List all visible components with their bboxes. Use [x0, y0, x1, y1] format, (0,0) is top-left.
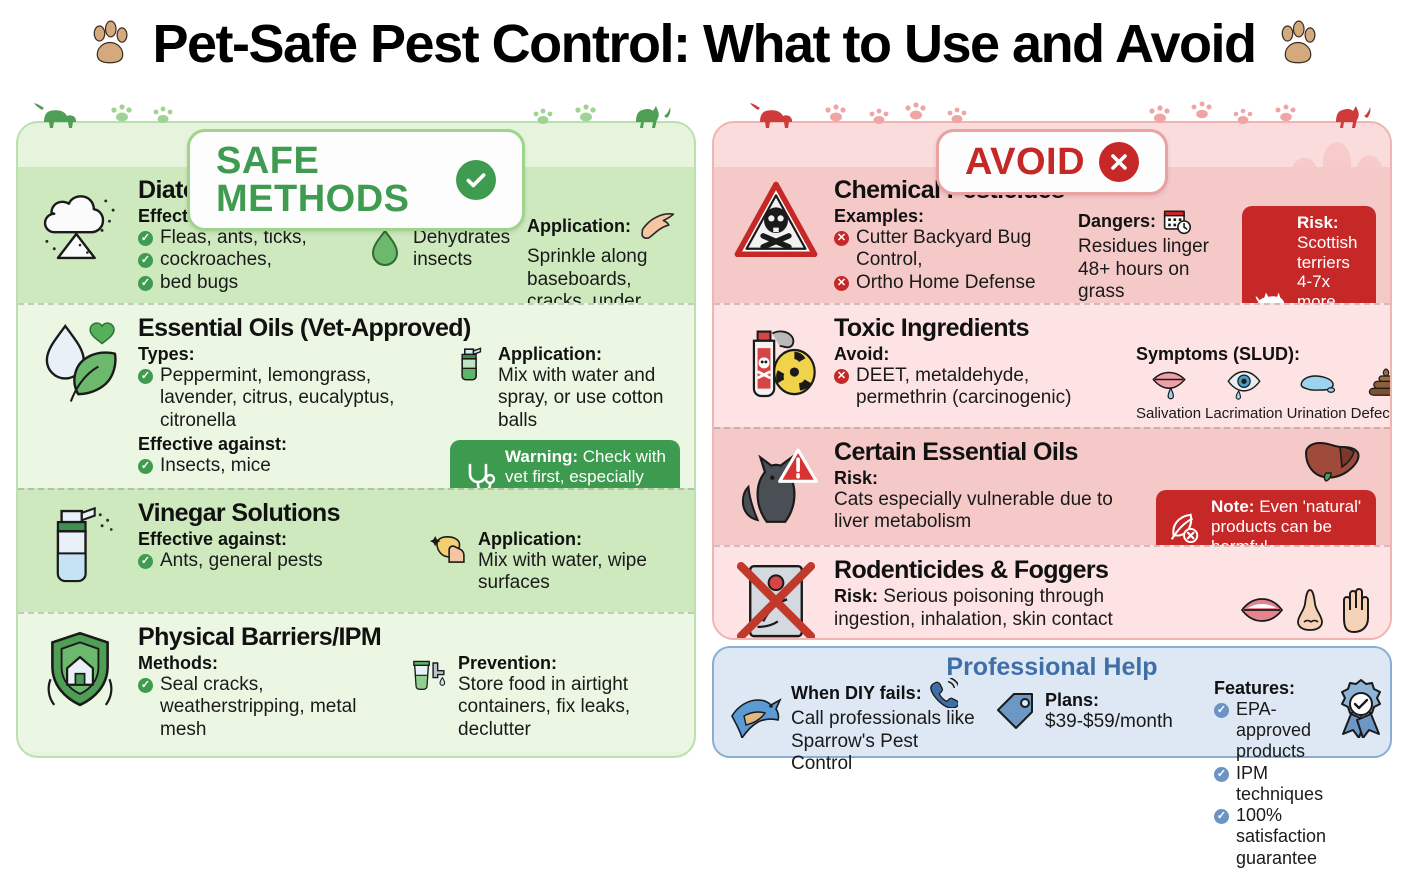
slud-item: Salivation [1136, 365, 1201, 423]
paw-print-icon [1274, 20, 1322, 68]
puddle-icon [1296, 365, 1338, 401]
risk-text: Cats especially vulnerable due to liver … [834, 489, 1144, 534]
hazard-skull-triangle-icon [728, 177, 824, 269]
x-circle-icon [1099, 142, 1139, 182]
page-title-bar: Pet-Safe Pest Control: What to Use and A… [0, 0, 1408, 88]
cat-warning-icon [728, 439, 824, 531]
application-label: Application: [478, 529, 680, 550]
examples-label: Examples: [834, 206, 1066, 227]
leaf-x-icon [1168, 510, 1202, 544]
list-item: ✓cockroaches, [138, 249, 353, 271]
section-title: Essential Oils (Vet-Approved) [138, 315, 680, 341]
effective-against-list: ✓Ants, general pests [138, 550, 418, 572]
types-list: ✓Peppermint, lemongrass, lavender, citru… [138, 365, 438, 432]
drooling-mouth-icon [1148, 365, 1190, 401]
methods-label: Methods: [138, 653, 398, 674]
plans-group: Plans: $39-$59/month [994, 678, 1204, 734]
when-diy-fails-label: When DIY fails: [791, 683, 922, 704]
professional-help-title: Professional Help [726, 654, 1378, 680]
list-item: ✓100% satisfaction guarantee [1214, 805, 1326, 869]
list-item: ✕Ortho Home Defense [834, 272, 1066, 294]
sponge-hand-icon [430, 529, 470, 569]
plans-label: Plans: [1045, 690, 1173, 711]
safe-methods-label: SAFE METHODS [216, 142, 442, 218]
spray-bottle-icon [32, 500, 128, 592]
check-icon: ✓ [1214, 809, 1229, 824]
safe-methods-badge: SAFE METHODS [187, 129, 525, 231]
nose-icon [1294, 588, 1328, 632]
hand-icon [1336, 586, 1376, 634]
section-title: Rodenticides & Foggers [834, 557, 1376, 583]
slud-label: Lacrimation [1205, 406, 1283, 423]
callout-bold: Note: [1211, 497, 1254, 516]
application-label: Application: [498, 344, 680, 365]
check-icon: ✓ [1214, 767, 1229, 782]
slud-label: Urination [1287, 406, 1347, 423]
dangers-label: Dangers: [1078, 211, 1156, 232]
safe-methods-column: SAFE METHODS Diatomac [16, 88, 696, 768]
types-label: Types: [138, 344, 438, 365]
list-item: ✓bed bugs [138, 272, 353, 294]
avoid-panel: AVOID [712, 121, 1392, 640]
list-item: ✓Seal cracks, weatherstripping, metal me… [138, 674, 398, 741]
spray-bottle-icon [450, 344, 490, 384]
avoid-column: AVOID [712, 88, 1392, 768]
poison-bottle-biohazard-icon [728, 315, 824, 407]
check-icon: ✓ [1214, 703, 1229, 718]
prevention-label: Prevention: [458, 653, 680, 674]
symptoms-label: Symptoms (SLUD): [1136, 344, 1376, 365]
list-item: ✓Ants, general pests [138, 550, 418, 572]
safe-section-vinegar-solutions: Vinegar Solutions Effective against: ✓An… [18, 488, 694, 612]
container-faucet-icon [410, 653, 450, 693]
effective-against-label: Effective against: [138, 434, 438, 455]
check-icon: ✓ [138, 231, 153, 246]
x-icon: ✕ [834, 231, 849, 246]
effective-against-list: ✓Fleas, ants, ticks, ✓cockroaches, ✓bed … [138, 227, 353, 294]
x-icon: ✕ [834, 276, 849, 291]
risk-label: Risk: [834, 586, 878, 606]
crossed-out-trap-icon [728, 557, 824, 640]
avoid-label: AVOID [965, 143, 1085, 181]
plans-text: $39-$59/month [1045, 711, 1173, 733]
list-item: ✓Peppermint, lemongrass, lavender, citru… [138, 365, 438, 432]
check-icon: ✓ [138, 678, 153, 693]
list-item: ✕DEET, metaldehyde, permethrin (carcinog… [834, 365, 1124, 410]
powder-cloud-icon [32, 177, 128, 269]
avoid-label: Avoid: [834, 344, 1124, 365]
risk-label: Risk: [834, 468, 1144, 489]
list-item: ✕Cutter Backyard Bug Control, [834, 227, 1066, 272]
avoid-section-certain-essential-oils: Certain Essential Oils Risk: Cats especi… [714, 427, 1390, 545]
slud-item: Urination [1287, 365, 1347, 423]
professional-help-panel: Professional Help When DIY fails: [712, 646, 1392, 758]
avoid-section-rodenticides-foggers: Rodenticides & Foggers Risk: Serious poi… [714, 545, 1390, 640]
mouth-icon [1238, 590, 1286, 630]
callout-bold: Warning: [505, 447, 578, 466]
effective-against-list: ✓Insects, mice [138, 455, 438, 477]
x-icon: ✕ [834, 369, 849, 384]
check-icon: ✓ [138, 276, 153, 291]
prevention-text: Store food in airtight containers, fix l… [458, 674, 680, 741]
avoid-list: ✕DEET, metaldehyde, permethrin (carcinog… [834, 365, 1124, 410]
droplet-leaf-heart-icon [32, 315, 128, 407]
sprinkle-hand-icon [637, 206, 677, 246]
slud-label: Defecation [1351, 406, 1392, 423]
safe-section-essential-oils: Essential Oils (Vet-Approved) Types: ✓Pe… [18, 303, 694, 488]
droplet-icon [365, 227, 405, 267]
examples-list: ✕Cutter Backyard Bug Control, ✕Ortho Hom… [834, 227, 1066, 294]
application-text: Mix with water, wipe surfaces [478, 550, 680, 595]
list-item: ✓EPA-approved products [1214, 699, 1326, 763]
check-circle-icon [456, 160, 496, 200]
check-icon: ✓ [138, 253, 153, 268]
phone-ringing-icon [928, 678, 958, 708]
paw-print-icon [86, 20, 134, 68]
avoid-badge: AVOID [936, 129, 1168, 195]
slud-item: Lacrimation [1205, 365, 1283, 423]
stool-icon [1365, 365, 1392, 401]
when-diy-fails-group: When DIY fails: Call professionals like … [726, 678, 984, 775]
effective-against-label: Effective against: [138, 529, 418, 550]
avoid-section-toxic-ingredients: Toxic Ingredients Avoid: ✕DEET, metaldeh… [714, 303, 1390, 427]
list-item: ✓IPM techniques [1214, 763, 1326, 805]
calendar-clock-icon [1162, 206, 1192, 236]
tearing-eye-icon [1223, 365, 1265, 401]
methods-list: ✓Seal cracks, weatherstripping, metal me… [138, 674, 398, 741]
safe-section-physical-barriers: Physical Barriers/IPM Methods: ✓Seal cra… [18, 612, 694, 752]
section-title: Toxic Ingredients [834, 315, 1376, 341]
check-icon: ✓ [138, 459, 153, 474]
bird-icon [726, 686, 784, 738]
application-label: Application: [527, 216, 631, 237]
section-title: Vinegar Solutions [138, 500, 680, 526]
section-title: Certain Essential Oils [834, 439, 1376, 465]
features-list: ✓EPA-approved products ✓IPM techniques ✓… [1214, 699, 1326, 869]
slud-label: Salivation [1136, 406, 1201, 423]
page-title: Pet-Safe Pest Control: What to Use and A… [152, 17, 1255, 71]
award-ribbon-icon [1333, 678, 1389, 738]
section-title: Physical Barriers/IPM [138, 624, 680, 650]
price-tag-icon [994, 690, 1038, 734]
dangers-text: Residues linger 48+ hours on grass [1078, 236, 1230, 303]
how-it-works-text: Dehydrates insects [413, 227, 515, 272]
callout-bold: Risk: [1297, 213, 1339, 232]
safe-methods-panel: SAFE METHODS Diatomac [16, 121, 696, 758]
list-item: ✓Insects, mice [138, 455, 438, 477]
features-group: Features: ✓EPA-approved products ✓IPM te… [1214, 678, 1389, 869]
when-diy-fails-text: Call professionals like Sparrow's Pest C… [791, 708, 984, 775]
slud-item: Defecation [1351, 365, 1392, 423]
application-text: Mix with water and spray, or use cotton … [498, 365, 680, 432]
slud-symptom-list: Salivation [1136, 365, 1376, 423]
check-icon: ✓ [138, 369, 153, 384]
features-label: Features: [1214, 678, 1326, 699]
shield-home-icon [32, 624, 128, 716]
check-icon: ✓ [138, 554, 153, 569]
